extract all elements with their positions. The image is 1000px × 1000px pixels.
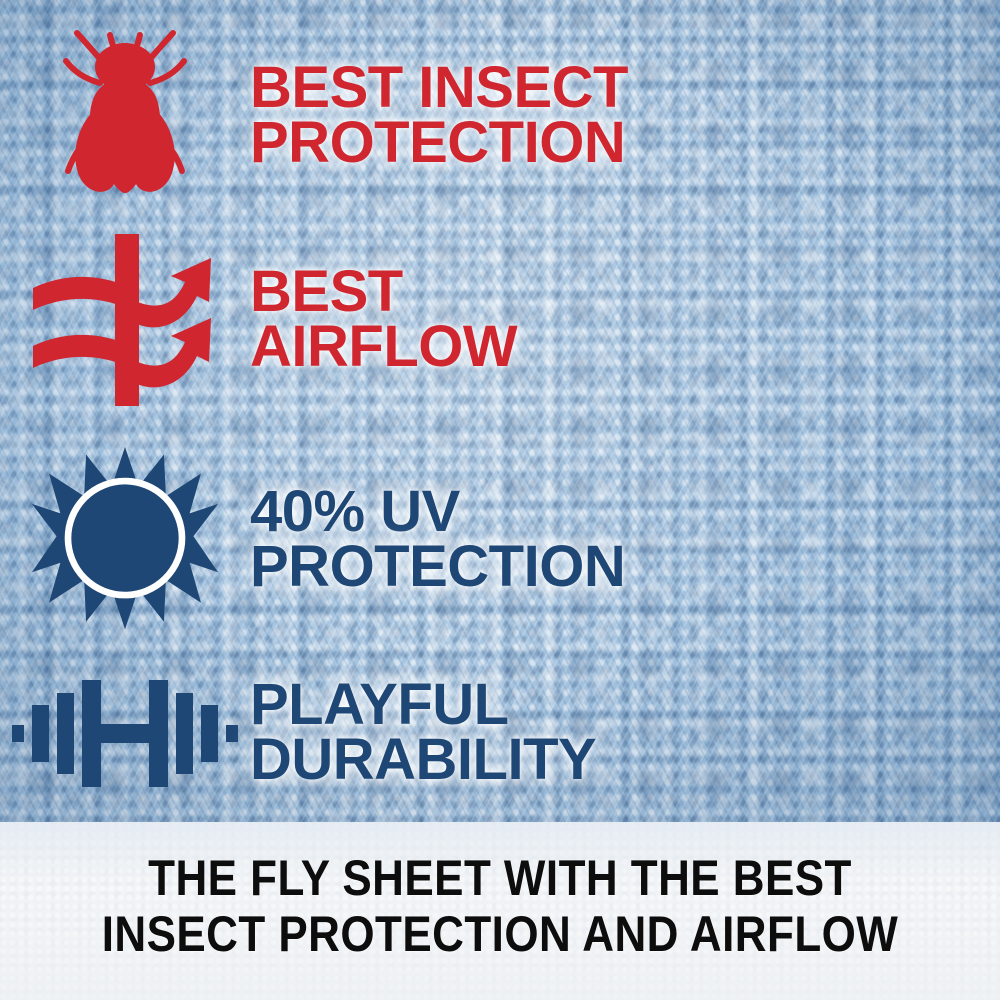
fly-icon	[50, 21, 200, 211]
feature-row-durability: PLAYFUL DURABILITY	[0, 645, 1000, 820]
label-cell-airflow: BEST AIRFLOW	[250, 265, 1000, 374]
infographic-image: BEST INSECT PROTECTION BEST AIRFLOW	[0, 0, 1000, 1000]
airflow-arrows-icon	[25, 230, 225, 410]
icon-cell-durability	[0, 668, 250, 798]
label-cell-durability: PLAYFUL DURABILITY	[250, 678, 1000, 787]
label-cell-uv-protection: 40% UV PROTECTION	[250, 485, 1000, 594]
sun-icon	[30, 445, 220, 635]
icon-cell-uv-protection	[0, 445, 250, 635]
bottom-caption-banner: THE FLY SHEET WITH THE BEST INSECT PROTE…	[0, 822, 1000, 1000]
label-cell-insect-protection: BEST INSECT PROTECTION	[250, 61, 1000, 170]
feature-label-insect-protection: BEST INSECT PROTECTION	[250, 61, 1000, 170]
icon-cell-airflow	[0, 230, 250, 410]
feature-row-uv-protection: 40% UV PROTECTION	[0, 440, 1000, 640]
feature-label-durability: PLAYFUL DURABILITY	[250, 678, 1000, 787]
feature-row-airflow: BEST AIRFLOW	[0, 225, 1000, 415]
feature-row-insect-protection: BEST INSECT PROTECTION	[0, 18, 1000, 213]
banner-caption-text: THE FLY SHEET WITH THE BEST INSECT PROTE…	[60, 850, 940, 962]
feature-label-airflow: BEST AIRFLOW	[250, 265, 1000, 374]
dumbbell-icon	[10, 668, 240, 798]
feature-label-uv-protection: 40% UV PROTECTION	[250, 485, 1000, 594]
icon-cell-insect-protection	[0, 21, 250, 211]
